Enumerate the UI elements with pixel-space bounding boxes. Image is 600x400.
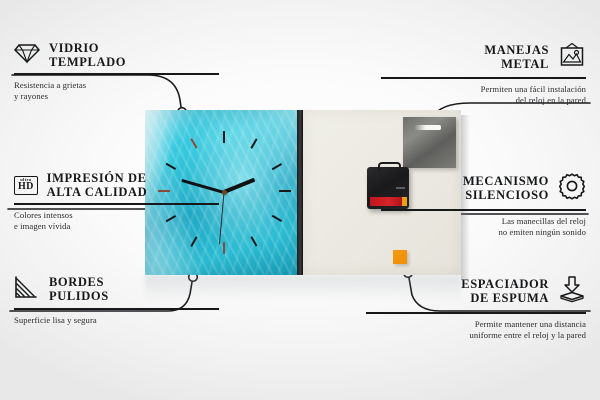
callout-divider: [366, 312, 586, 314]
callout-title: ESPACIADOR DE ESPUMA: [461, 278, 549, 305]
callout-mecanismo-silencioso[interactable]: MECANISMO SILENCIOSO Las manecillas del …: [381, 172, 586, 238]
callout-manejas-metal[interactable]: MANEJAS METAL Permiten una fácil instala…: [381, 42, 586, 106]
callout-header: VIDRIO TEMPLADO: [14, 42, 219, 69]
callout-subtitle-line1: Resistencia a grietas: [14, 80, 86, 90]
foam-spacer-arrow-icon: [558, 275, 586, 308]
hour-tick: [190, 138, 197, 148]
gear-icon: [558, 172, 586, 205]
hanger-slot: [415, 125, 441, 130]
callout-title-line2: PULIDOS: [49, 289, 109, 303]
hands-center-cap: [222, 190, 227, 195]
diamond-icon: [14, 42, 40, 69]
callout-title-line1: VIDRIO: [49, 41, 99, 55]
ultra-hd-icon-big-text: HD: [18, 182, 34, 192]
callout-title: VIDRIO TEMPLADO: [49, 42, 126, 69]
callout-header: ESPACIADOR DE ESPUMA: [366, 275, 586, 308]
callout-title-line1: ESPACIADOR: [461, 277, 549, 291]
callout-header: MANEJAS METAL: [381, 42, 586, 73]
hour-tick: [166, 163, 176, 170]
callout-subtitle-line2: no emiten ningún sonido: [498, 227, 586, 237]
callout-vidrio-templado[interactable]: VIDRIO TEMPLADO Resistencia a grietas y …: [14, 42, 219, 102]
callout-subtitle-line1: Colores intensos: [14, 210, 73, 220]
hour-tick: [279, 190, 291, 192]
ultra-hd-icon: ultra HD: [14, 176, 38, 196]
callout-subtitle: Superficie lisa y segura: [14, 315, 219, 326]
callout-title: MECANISMO SILENCIOSO: [463, 175, 549, 202]
hour-tick: [190, 236, 197, 246]
callout-title-line2: SILENCIOSO: [465, 188, 549, 202]
infographic-canvas: VIDRIO TEMPLADO Resistencia a grietas y …: [0, 0, 600, 400]
callout-subtitle-line2: uniforme entre el reloj y la pared: [470, 330, 587, 340]
callout-divider: [14, 73, 219, 75]
second-hand: [219, 192, 225, 244]
hour-tick: [223, 131, 225, 143]
callout-title: IMPRESIÓN DE ALTA CALIDAD: [47, 172, 148, 199]
callout-title-line2: TEMPLADO: [49, 55, 126, 69]
hour-tick: [250, 138, 257, 148]
callout-header: BORDES PULIDOS: [14, 275, 219, 304]
foam-spacer: [393, 250, 407, 264]
callout-subtitle-line1: Superficie lisa y segura: [14, 315, 97, 325]
callout-subtitle: Las manecillas del reloj no emiten ningú…: [381, 216, 586, 238]
callout-subtitle-line1: Las manecillas del reloj: [502, 216, 586, 226]
hour-hand: [223, 178, 255, 194]
callout-espaciador-espuma[interactable]: ESPACIADOR DE ESPUMA Permite mantener un…: [366, 275, 586, 341]
callout-divider: [14, 308, 219, 310]
metal-hanger-plate: [403, 117, 456, 168]
callout-divider: [381, 209, 586, 211]
callout-title-line2: METAL: [501, 57, 549, 71]
hour-tick: [250, 236, 257, 246]
callout-subtitle-line2: y rayones: [14, 91, 48, 101]
callout-subtitle-line2: e imagen vívida: [14, 221, 70, 231]
callout-title-line1: IMPRESIÓN DE: [47, 171, 147, 185]
callout-title-line2: ALTA CALIDAD: [47, 185, 148, 199]
hour-tick: [272, 163, 282, 170]
callout-subtitle: Colores intensos e imagen vívida: [14, 210, 219, 232]
callout-impresion-alta-calidad[interactable]: ultra HD IMPRESIÓN DE ALTA CALIDAD Color…: [14, 172, 219, 232]
callout-title-line1: MECANISMO: [463, 174, 549, 188]
movement-hang-tab: [378, 162, 401, 171]
callout-subtitle-line1: Permite mantener una distancia: [475, 319, 586, 329]
hour-tick: [223, 242, 225, 254]
callout-title-line2: DE ESPUMA: [470, 291, 549, 305]
callout-header: ultra HD IMPRESIÓN DE ALTA CALIDAD: [14, 172, 219, 199]
callout-subtitle-line1: Permiten una fácil instalación: [481, 84, 586, 94]
callout-subtitle-line2: del reloj en la pared: [516, 95, 586, 105]
callout-title-line1: BORDES: [49, 275, 104, 289]
callout-subtitle: Resistencia a grietas y rayones: [14, 80, 219, 102]
callout-subtitle: Permite mantener una distancia uniforme …: [366, 319, 586, 341]
callout-title-line1: MANEJAS: [484, 43, 549, 57]
callout-title: MANEJAS METAL: [484, 44, 549, 71]
polished-edge-icon: [14, 275, 40, 304]
callout-bordes-pulidos[interactable]: BORDES PULIDOS Superficie lisa y segura: [14, 275, 219, 326]
callout-divider: [14, 203, 219, 205]
callout-title: BORDES PULIDOS: [49, 276, 109, 303]
callout-subtitle: Permiten una fácil instalación del reloj…: [381, 84, 586, 106]
wall-hanger-frame-icon: [558, 42, 586, 73]
callout-divider: [381, 77, 586, 79]
callout-header: MECANISMO SILENCIOSO: [381, 172, 586, 205]
hour-tick: [272, 215, 282, 222]
